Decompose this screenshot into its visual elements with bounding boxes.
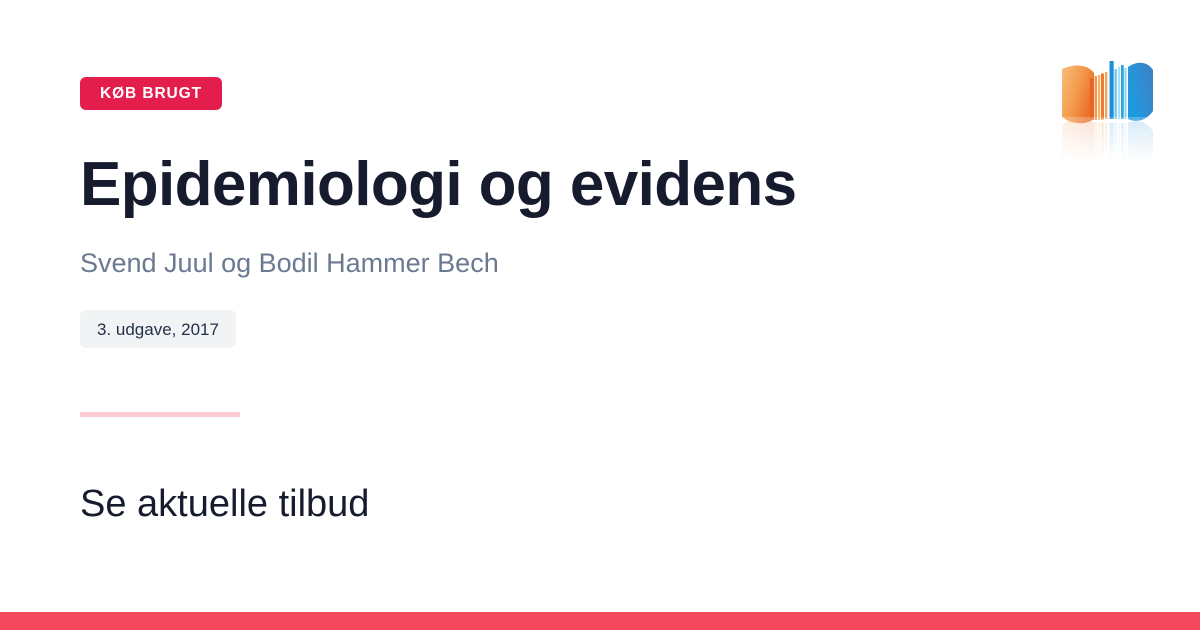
bottom-accent-bar [0, 612, 1200, 630]
book-title: Epidemiologi og evidens [80, 152, 797, 219]
butterfly-book-logo [1050, 45, 1162, 165]
book-authors: Svend Juul og Bodil Hammer Bech [80, 247, 499, 279]
status-badge-buy-used[interactable]: KØB BRUGT [80, 77, 222, 110]
section-divider [80, 412, 240, 417]
card-content: KØB BRUGT Epidemiologi og evidens Svend … [80, 0, 1020, 630]
book-promo-card: KØB BRUGT Epidemiologi og evidens Svend … [0, 0, 1200, 630]
edition-chip: 3. udgave, 2017 [80, 310, 236, 348]
cta-see-current-offers[interactable]: Se aktuelle tilbud [80, 482, 369, 528]
